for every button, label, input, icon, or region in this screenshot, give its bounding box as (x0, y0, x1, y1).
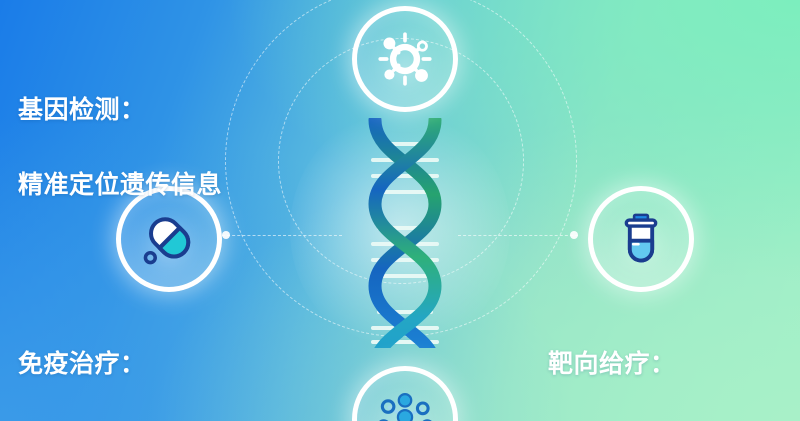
caption-immune-therapy-line1: 免疫治疗： (18, 348, 222, 381)
connector-node-right (570, 231, 578, 239)
caption-targeted-therapy-line1: 靶向给疗： (548, 348, 752, 381)
node-bubble-top[interactable] (352, 6, 458, 112)
connector-line-right (458, 235, 578, 236)
caption-targeted-therapy: 靶向给疗： 激活自身免疫系统 (548, 306, 752, 421)
molecule-network-icon (373, 387, 437, 421)
node-bubble-right[interactable] (588, 186, 694, 292)
caption-gene-test: 基因检测： 精准定位遗传信息 (18, 52, 222, 245)
connector-line-left (222, 235, 342, 236)
infographic-canvas: 基因检测： 精准定位遗传信息 免疫治疗： 针对病变细胞治疗 靶向给疗： 激活自身… (0, 0, 800, 421)
connector-node-left (222, 231, 230, 239)
virus-cell-icon (372, 26, 438, 92)
node-bubble-bottom[interactable] (352, 366, 458, 421)
dna-helix-graphic (345, 118, 465, 348)
caption-immune-therapy: 免疫治疗： 针对病变细胞治疗 (18, 306, 222, 421)
caption-gene-test-line2: 精准定位遗传信息 (18, 169, 222, 202)
test-tube-icon (610, 208, 672, 270)
caption-gene-test-line1: 基因检测： (18, 94, 222, 127)
